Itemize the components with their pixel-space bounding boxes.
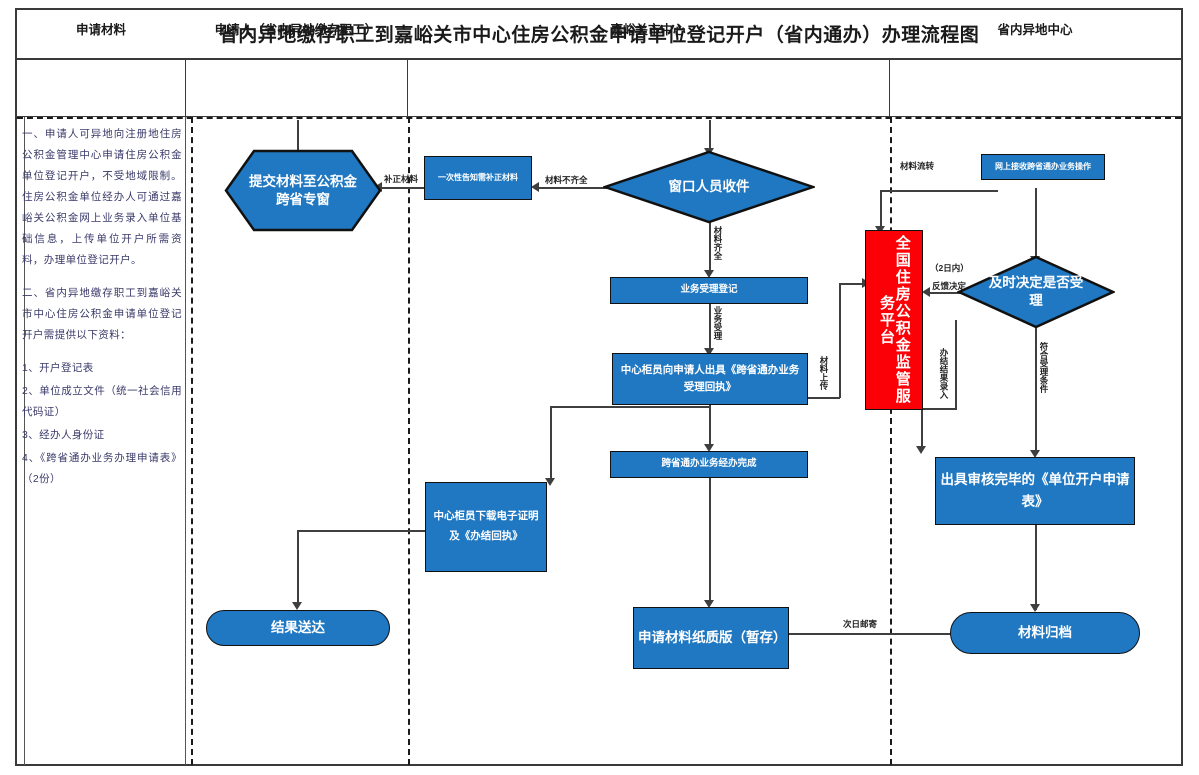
- node-business-done-label: 跨省通办业务经办完成: [657, 458, 760, 471]
- arrowhead-platform-feedback: [922, 287, 930, 297]
- node-teller-download-label: 中心柜员下载电子证明及《办结回执》: [426, 507, 546, 547]
- node-archive-label: 材料归档: [1014, 624, 1076, 642]
- connector-decide-to-issue: [1035, 327, 1037, 452]
- connector-receipt-upload-v: [839, 283, 841, 398]
- materials-paragraph-2: 二、省内异地缴存职工到嘉峪关市中心住房公积金申请单位登记开户需提供以下资料：: [22, 283, 182, 346]
- connector-receipt-to-done: [709, 404, 711, 446]
- node-one-time-notify[interactable]: 一次性告知需补正材料: [424, 156, 532, 200]
- node-submit-materials-label: 提交材料至公积金跨省专窗: [245, 173, 361, 208]
- connector-download-to-result-h: [297, 530, 427, 532]
- node-submit-materials-hexagon[interactable]: 提交材料至公积金跨省专窗: [224, 149, 382, 232]
- connector-lane-to-platform-v: [880, 190, 882, 230]
- node-teller-download[interactable]: 中心柜员下载电子证明及《办结回执》: [425, 482, 547, 572]
- node-paper-materials[interactable]: 申请材料纸质版（暂存）: [633, 607, 789, 669]
- connector-download-to-result-v: [297, 530, 299, 606]
- node-teller-receipt-label: 中心柜员向申请人出具《跨省通办业务受理回执》: [613, 362, 807, 396]
- materials-text-block: 一、申请人可异地向注册地住房公积金管理中心申请住房公积金单位登记开户，不受地域限…: [22, 124, 182, 502]
- flowchart-page: 省内异地缴存职工到嘉峪关市中心住房公积金申请单位登记开户（省内通办）办理流程图 …: [0, 0, 1199, 775]
- materials-paragraph-1: 一、申请人可异地向注册地住房公积金管理中心申请住房公积金单位登记开户，不受地域限…: [22, 124, 182, 271]
- edge-label-result-entry: 办结结果录入: [938, 348, 950, 399]
- edge-label-complete: 材料齐全: [712, 226, 724, 260]
- materials-paragraph-4: 2、单位成立文件（统一社会信用代码证）: [22, 381, 182, 423]
- edge-label-incomplete: 材料不齐全: [545, 174, 588, 186]
- connector-online-to-decide: [1035, 188, 1037, 258]
- node-window-accept-label: 窗口人员收件: [665, 178, 754, 196]
- connector-notify-to-hexagon: [380, 187, 424, 189]
- arrowhead-platform-down: [916, 446, 926, 454]
- arrowhead-to-notify: [531, 182, 539, 192]
- node-national-platform-label: 全国住房公积金监管服务平台: [878, 231, 910, 409]
- materials-paragraph-5: 3、经办人身份证: [22, 425, 182, 446]
- lane-separator-applicant: [191, 117, 193, 765]
- node-national-platform[interactable]: 全国住房公积金监管服务平台: [865, 230, 923, 410]
- column-header-jiayuguan-label: 嘉峪关市中心: [610, 19, 685, 38]
- materials-paragraph-6: 4、《跨省通办业务办理申请表》（2份）: [22, 448, 182, 490]
- lane-separator-jiayuguan: [408, 117, 410, 765]
- connector-paper-to-archive: [789, 633, 957, 635]
- connector-done-to-paper: [709, 478, 711, 603]
- node-issue-form[interactable]: 出具审核完毕的《单位开户申请表》: [935, 457, 1135, 525]
- connector-result-entry-v: [955, 320, 957, 410]
- column-header-jiayuguan: 嘉峪关市中心: [407, 0, 889, 57]
- column-header-applicant: 申请人（省内异地缴存职工）: [185, 0, 407, 57]
- header-divider-3: [889, 60, 890, 117]
- edge-label-business-handling: 业务受理: [712, 306, 724, 340]
- node-issue-form-label: 出具审核完毕的《单位开户申请表》: [936, 469, 1134, 512]
- node-teller-receipt[interactable]: 中心柜员向申请人出具《跨省通办业务受理回执》: [612, 353, 808, 405]
- connector-top-to-hexagon: [297, 120, 299, 150]
- lane-separator-remote: [890, 117, 892, 765]
- connector-receipt-upload-h1: [806, 397, 840, 399]
- node-decide-accept-diamond[interactable]: 及时决定是否受理: [957, 255, 1115, 329]
- header-divider-2: [407, 60, 408, 117]
- column-header-remote: 省内异地中心: [889, 0, 1181, 57]
- node-one-time-notify-label: 一次性告知需补正材料: [434, 172, 522, 184]
- connector-issue-down: [1035, 525, 1037, 610]
- connector-top-to-window: [709, 120, 711, 150]
- connector-business-to-receipt: [709, 303, 711, 351]
- node-archive[interactable]: 材料归档: [950, 612, 1140, 654]
- node-online-receive[interactable]: 网上接收跨省通办业务操作: [981, 154, 1105, 180]
- header-divider-1: [185, 60, 186, 117]
- edge-label-correct-materials: 补正材料: [384, 173, 418, 185]
- arrowhead-to-result-delivery: [292, 602, 302, 610]
- node-result-delivery-label: 结果送达: [267, 619, 329, 637]
- node-business-accept-label: 业务受理登记: [676, 284, 741, 297]
- column-header-remote-label: 省内异地中心: [997, 19, 1072, 38]
- connector-lane-to-platform-h: [880, 190, 998, 192]
- node-decide-accept-label: 及时决定是否受理: [981, 274, 1091, 310]
- node-business-accept[interactable]: 业务受理登记: [610, 277, 808, 304]
- arrowhead-issue-to-archive: [1030, 604, 1040, 612]
- edge-label-material-upload: 材料上传: [818, 356, 830, 390]
- connector-receipt-to-download-v: [550, 406, 552, 482]
- node-online-receive-label: 网上接收跨省通办业务操作: [991, 162, 1095, 173]
- node-window-accept-diamond[interactable]: 窗口人员收件: [603, 150, 815, 224]
- edge-label-material-transfer: 材料流转: [900, 160, 934, 172]
- connector-receipt-to-download-h: [550, 406, 710, 408]
- edge-label-next-day-mail: 次日邮寄: [843, 618, 877, 630]
- edge-label-meets-condition: 符合受理条件: [1038, 342, 1050, 393]
- connector-window-to-business: [709, 222, 711, 272]
- connector-platform-down: [921, 405, 923, 450]
- column-header-applicant-label: 申请人（省内异地缴存职工）: [215, 19, 378, 38]
- lane-line-materials-right: [185, 117, 186, 765]
- column-header-row: [15, 60, 1183, 117]
- node-business-done[interactable]: 跨省通办业务经办完成: [610, 451, 808, 478]
- column-header-materials: 申请材料: [17, 0, 185, 57]
- node-paper-materials-label: 申请材料纸质版（暂存）: [634, 627, 788, 649]
- materials-paragraph-3: 1、开户登记表: [22, 358, 182, 379]
- node-result-delivery[interactable]: 结果送达: [206, 610, 390, 646]
- column-header-materials-label: 申请材料: [76, 19, 126, 38]
